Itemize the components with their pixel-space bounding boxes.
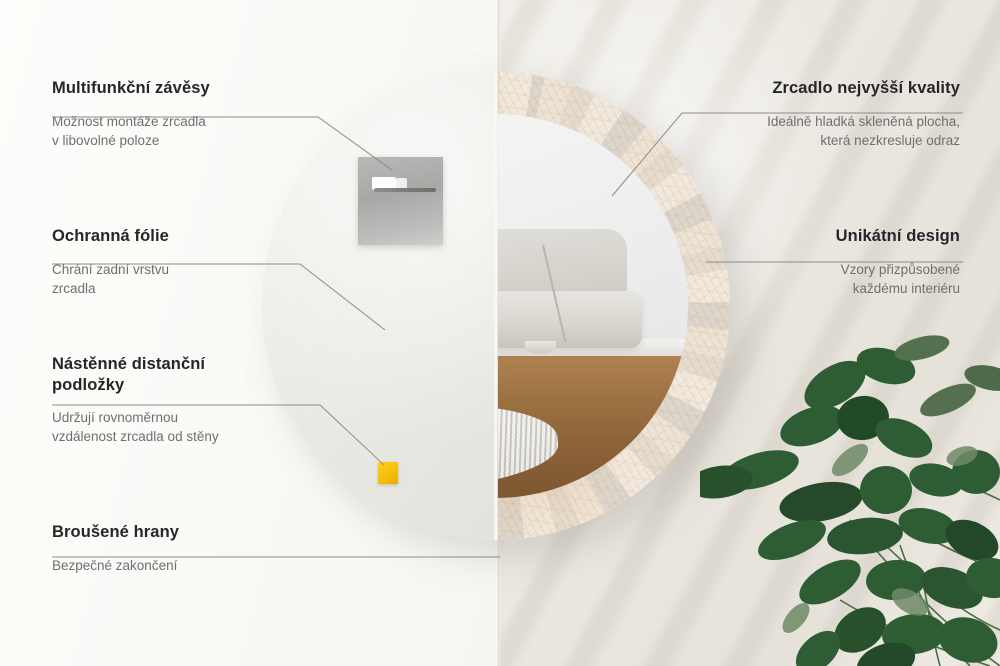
callout-description: Ideálně hladká skleněná plocha,která nez… bbox=[660, 112, 960, 150]
infographic-canvas: Multifunkční závěsy Možnost montáže zrca… bbox=[0, 0, 1000, 666]
callout-title: Zrcadlo nejvyšší kvality bbox=[660, 78, 960, 99]
callout-description: Udržují rovnoměrnouvzdálenost zrcadla od… bbox=[52, 408, 352, 446]
callout-title: Multifunkční závěsy bbox=[52, 78, 352, 99]
callout-description: Možnost montáže zrcadlav libovolné poloz… bbox=[52, 112, 352, 150]
callout-title: Unikátní design bbox=[740, 226, 960, 247]
callout-description: Vzory přizpůsobenékaždému interiéru bbox=[740, 260, 960, 298]
hanger-rail bbox=[374, 188, 436, 192]
callout-ochranna-folie: Ochranná fólie Chrání zadní vrstvuzrcadl… bbox=[52, 226, 352, 298]
callout-brousene-hrany: Broušené hrany Bezpečné zakončení bbox=[52, 522, 372, 575]
callout-unikatni-design: Unikátní design Vzory přizpůsobenékaždém… bbox=[740, 226, 960, 298]
callout-title: Broušené hrany bbox=[52, 522, 372, 543]
callout-description: Chrání zadní vrstvuzrcadla bbox=[52, 260, 352, 298]
callout-title: Nástěnné distančnípodložky bbox=[52, 354, 352, 395]
callout-title: Ochranná fólie bbox=[52, 226, 352, 247]
callout-nastenne-distancni-podlozky: Nástěnné distančnípodložky Udržují rovno… bbox=[52, 354, 352, 447]
wall-spacer-pad-marker bbox=[378, 462, 398, 484]
callout-multifunkcni-zavesy: Multifunkční závěsy Možnost montáže zrca… bbox=[52, 78, 352, 150]
reflection-pendant-lamp bbox=[525, 341, 556, 354]
hanger-plate-marker bbox=[358, 157, 443, 245]
callout-description: Bezpečné zakončení bbox=[52, 556, 372, 575]
callout-zrcadlo-nejvyssi-kvality: Zrcadlo nejvyšší kvality Ideálně hladká … bbox=[660, 78, 960, 150]
